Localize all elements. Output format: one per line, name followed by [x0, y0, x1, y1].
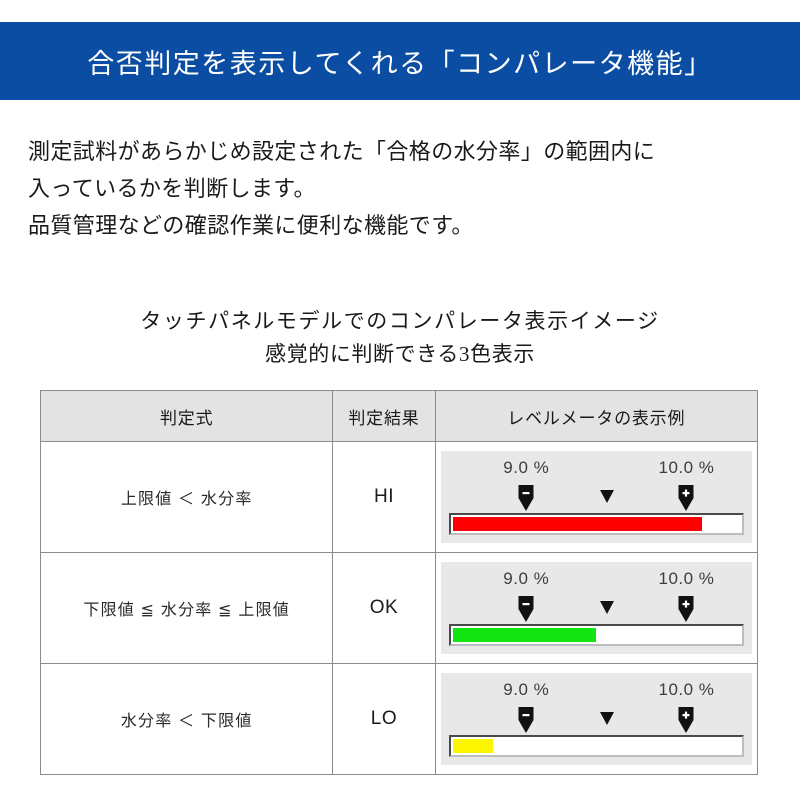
intro-line-1: 測定試料があらかじめ設定された「合格の水分率」の範囲内に [28, 133, 788, 170]
lower-limit-label: 9.0 % [503, 680, 549, 700]
lower-limit-label: 9.0 % [503, 458, 549, 478]
level-meter-cell: 9.0 % 10.0 % [435, 553, 757, 664]
upper-limit-label: 10.0 % [658, 569, 714, 589]
caption-line-2: 感覚的に判断できる3色表示 [0, 338, 800, 371]
lower-limit-label: 9.0 % [503, 569, 549, 589]
current-value-marker-icon [599, 711, 615, 726]
meter-fill-bar [453, 517, 703, 531]
upper-limit-marker-icon [678, 706, 695, 734]
table-row: 水分率 ＜ 下限値 LO 9.0 % 10.0 % [41, 664, 758, 775]
column-header-meter: レベルメータの表示例 [435, 391, 757, 442]
table-caption: タッチパネルモデルでのコンパレータ表示イメージ 感覚的に判断できる3色表示 [0, 305, 800, 371]
table-row: 上限値 ＜ 水分率 HI 9.0 % 10.0 % [41, 442, 758, 553]
upper-limit-marker-icon [678, 595, 695, 623]
current-value-marker-icon [599, 489, 615, 504]
meter-track [453, 739, 740, 753]
level-meter: 9.0 % 10.0 % [441, 451, 752, 543]
level-meter: 9.0 % 10.0 % [441, 562, 752, 654]
meter-track-frame [449, 624, 744, 646]
lower-limit-marker-icon [518, 484, 535, 512]
judgment-result: HI [333, 442, 435, 553]
judgment-expression: 上限値 ＜ 水分率 [41, 442, 333, 553]
level-meter: 9.0 % 10.0 % [441, 673, 752, 765]
meter-label-row: 9.0 % 10.0 % [441, 569, 752, 593]
level-meter-cell: 9.0 % 10.0 % [435, 664, 757, 775]
table-header-row: 判定式 判定結果 レベルメータの表示例 [41, 391, 758, 442]
judgment-result: OK [333, 553, 435, 664]
judgment-expression: 下限値 ≦ 水分率 ≦ 上限値 [41, 553, 333, 664]
intro-line-3: 品質管理などの確認作業に便利な機能です。 [28, 207, 788, 244]
page-title: 合否判定を表示してくれる「コンパレータ機能」 [87, 42, 712, 81]
upper-limit-marker-icon [678, 484, 695, 512]
meter-track-frame [449, 735, 744, 757]
intro-paragraph: 測定試料があらかじめ設定された「合格の水分率」の範囲内に 入っているかを判断しま… [28, 133, 788, 244]
comparator-table: 判定式 判定結果 レベルメータの表示例 上限値 ＜ 水分率 HI 9.0 % 1… [40, 390, 758, 775]
meter-track [453, 517, 740, 531]
judgment-result: LO [333, 664, 435, 775]
meter-label-row: 9.0 % 10.0 % [441, 680, 752, 704]
intro-line-2: 入っているかを判断します。 [28, 170, 788, 207]
meter-fill-bar [453, 628, 597, 642]
column-header-result: 判定結果 [333, 391, 435, 442]
column-header-expression: 判定式 [41, 391, 333, 442]
caption-line-1: タッチパネルモデルでのコンパレータ表示イメージ [0, 305, 800, 338]
meter-track [453, 628, 740, 642]
meter-label-row: 9.0 % 10.0 % [441, 458, 752, 482]
upper-limit-label: 10.0 % [658, 680, 714, 700]
judgment-expression: 水分率 ＜ 下限値 [41, 664, 333, 775]
lower-limit-marker-icon [518, 706, 535, 734]
table-row: 下限値 ≦ 水分率 ≦ 上限値 OK 9.0 % 10.0 % [41, 553, 758, 664]
meter-track-frame [449, 513, 744, 535]
meter-fill-bar [453, 739, 493, 753]
upper-limit-label: 10.0 % [658, 458, 714, 478]
lower-limit-marker-icon [518, 595, 535, 623]
page-header-banner: 合否判定を表示してくれる「コンパレータ機能」 [0, 22, 800, 100]
level-meter-cell: 9.0 % 10.0 % [435, 442, 757, 553]
current-value-marker-icon [599, 600, 615, 615]
